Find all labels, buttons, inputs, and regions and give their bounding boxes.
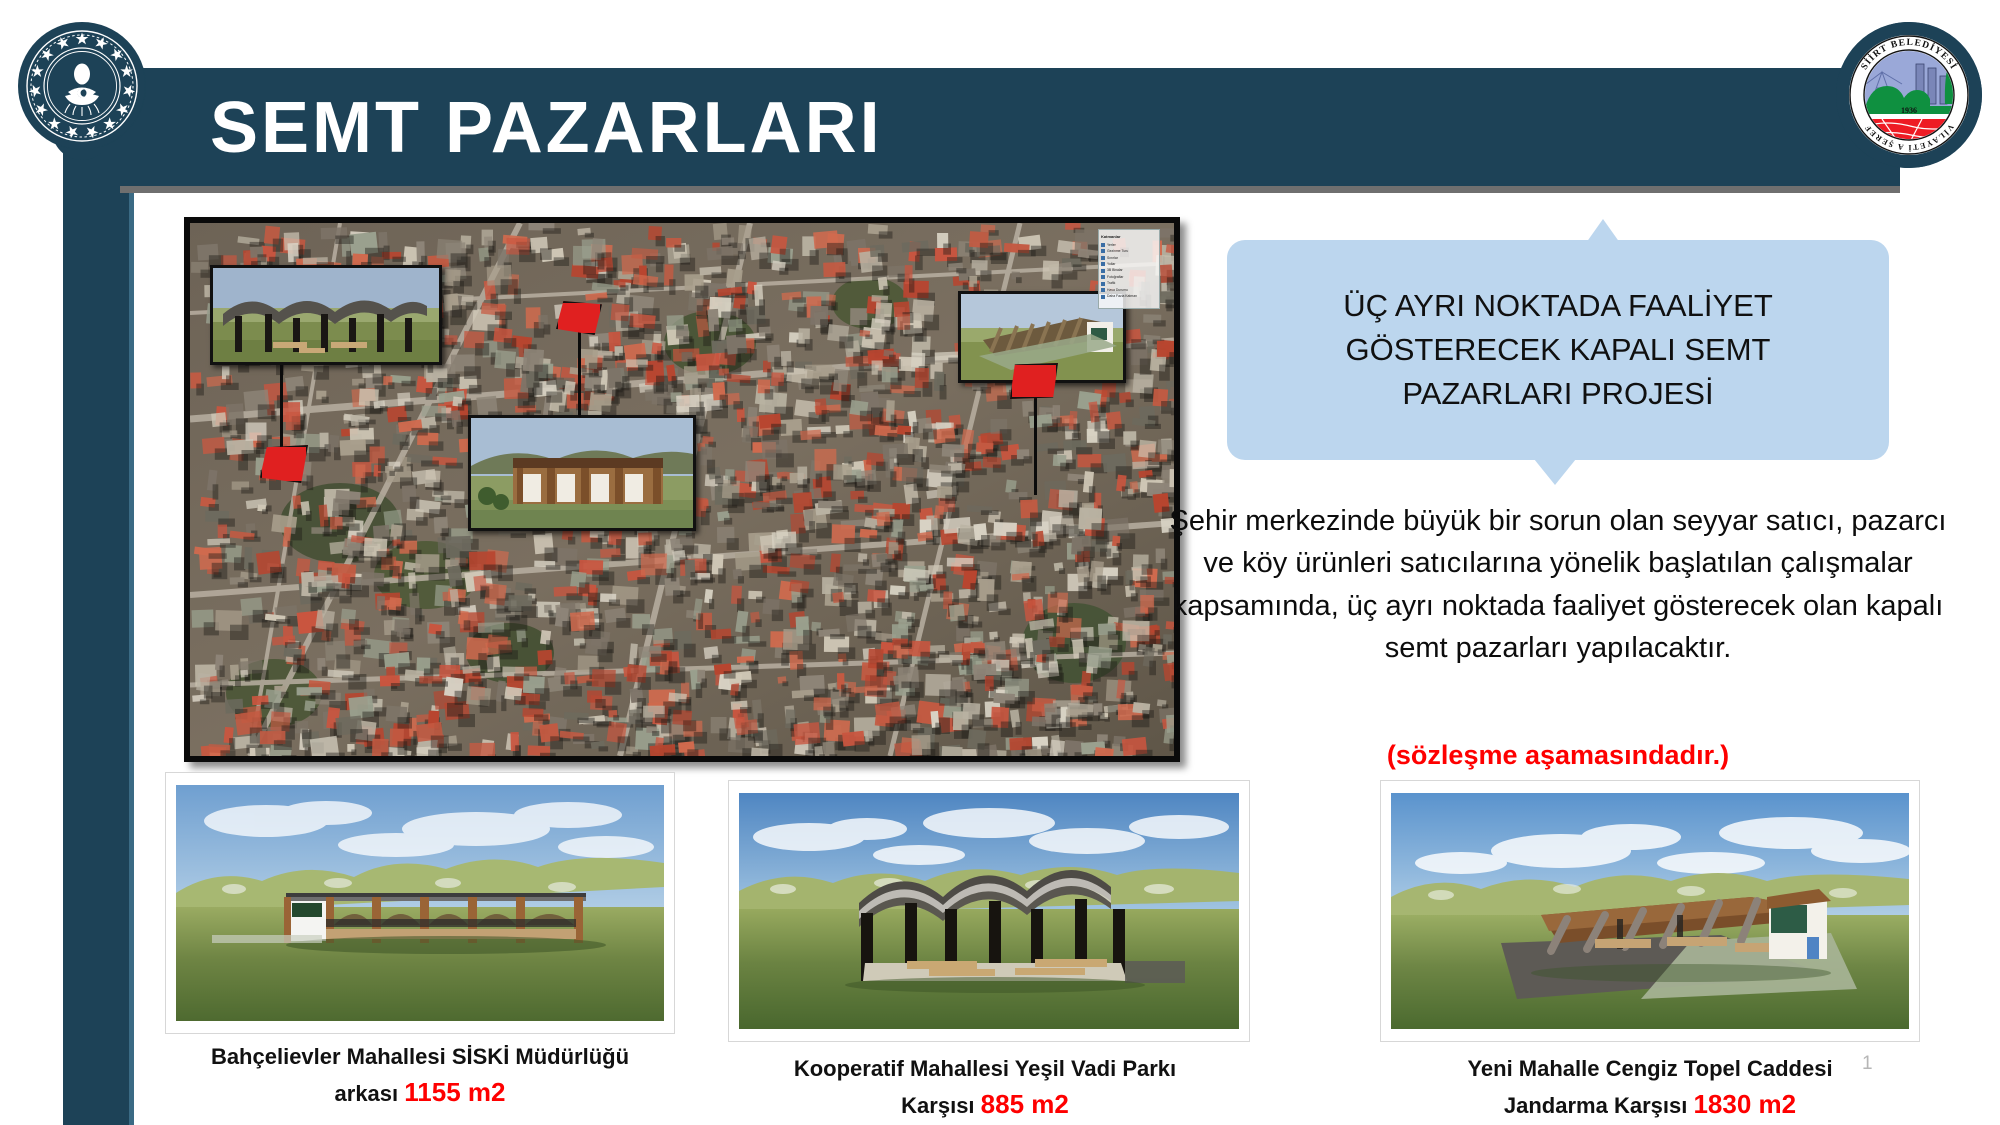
left-accent-bar [63, 110, 129, 1125]
caption-line-2: Karşısı 885 m2 [705, 1085, 1265, 1124]
callout-line-1: ÜÇ AYRI NOKTADA FAALİYET [1343, 284, 1773, 328]
project-callout-box: ÜÇ AYRI NOKTADA FAALİYET GÖSTERECEK KAPA… [1227, 240, 1889, 460]
callout-line-2: GÖSTERECEK KAPALI SEMT [1343, 328, 1773, 372]
project-area: 1830 m2 [1693, 1089, 1796, 1119]
callout-tail-bottom [1534, 459, 1576, 485]
layer-swatch-icon [1101, 288, 1105, 292]
layer-swatch-icon [1101, 256, 1105, 260]
callout-line-3: PAZARLARI PROJESİ [1343, 372, 1773, 416]
status-note: (sözleşme aşamasındadır.) [1168, 740, 1948, 771]
project-render-card-kooperatif[interactable] [728, 780, 1250, 1042]
satellite-map-canvas[interactable]: Katmanlar Yerler Gezinme Turu Sınırlar Y… [190, 223, 1174, 756]
callout-text: ÜÇ AYRI NOKTADA FAALİYET GÖSTERECEK KAPA… [1303, 284, 1813, 416]
map-inset-render-wave-market[interactable] [210, 265, 442, 365]
map-site-marker-yenimahalle[interactable] [1010, 363, 1058, 399]
map-leader-line [280, 365, 283, 451]
layer-swatch-icon [1101, 295, 1105, 299]
project-render-card-bahcelievler[interactable] [165, 772, 675, 1034]
caption-prefix: Jandarma Karşısı [1504, 1093, 1694, 1118]
map-site-marker-kooperatif[interactable] [556, 301, 602, 335]
layer-swatch-icon [1101, 269, 1105, 273]
render-image-yenimahalle [1391, 793, 1909, 1029]
caption-line-2: arkası 1155 m2 [140, 1073, 700, 1112]
map-layers-panel[interactable]: Katmanlar Yerler Gezinme Turu Sınırlar Y… [1098, 229, 1160, 309]
seal-year: 1936 [1901, 106, 1917, 115]
municipality-seal-icon: 1936 SİİRT BELEDİYESİ VİLAYETİ A ŞEREF [1836, 22, 1982, 168]
header-band-shadow [120, 186, 1900, 193]
caption-line-1: Bahçelievler Mahallesi SİSKİ Müdürlüğü [140, 1040, 700, 1073]
caption-line-1: Yeni Mahalle Cengiz Topel Caddesi [1370, 1052, 1930, 1085]
layer-swatch-icon [1101, 282, 1105, 286]
caption-prefix: Karşısı [901, 1093, 981, 1118]
caption-line-1: Kooperatif Mahallesi Yeşil Vadi Parkı [705, 1052, 1265, 1085]
map-site-marker-bahcelievler[interactable] [260, 445, 308, 483]
project-area: 1155 m2 [404, 1077, 505, 1107]
ministry-seal-icon [18, 22, 146, 150]
page-title: SEMT PAZARLARI [210, 73, 883, 183]
project-caption-yenimahalle: Yeni Mahalle Cengiz Topel Caddesi Jandar… [1370, 1052, 1930, 1124]
caption-prefix: arkası [335, 1081, 405, 1106]
left-accent-bar-edge [129, 110, 134, 1125]
project-area: 885 m2 [981, 1089, 1069, 1119]
render-image-bahcelievler [176, 785, 664, 1021]
layer-swatch-icon [1101, 243, 1105, 247]
map-layers-title: Katmanlar [1101, 233, 1157, 241]
layer-swatch-icon [1101, 249, 1105, 253]
page-number: 1 [1862, 1053, 1873, 1075]
map-leader-line [1034, 391, 1037, 495]
description-paragraph: Şehir merkezinde büyük bir sorun olan se… [1168, 500, 1948, 669]
project-caption-bahcelievler: Bahçelievler Mahallesi SİSKİ Müdürlüğü a… [140, 1040, 700, 1112]
project-caption-kooperatif: Kooperatif Mahallesi Yeşil Vadi Parkı Ka… [705, 1052, 1265, 1124]
project-render-card-yenimahalle[interactable] [1380, 780, 1920, 1042]
layer-swatch-icon [1101, 275, 1105, 279]
map-inset-render-arcade-market[interactable] [468, 415, 696, 531]
satellite-map-panel[interactable]: Katmanlar Yerler Gezinme Turu Sınırlar Y… [184, 217, 1180, 762]
layer-swatch-icon [1101, 262, 1105, 266]
render-image-kooperatif [739, 793, 1239, 1029]
map-layer-item[interactable]: Daha Fazla Katman [1101, 293, 1157, 299]
caption-line-2: Jandarma Karşısı 1830 m2 [1370, 1085, 1930, 1124]
